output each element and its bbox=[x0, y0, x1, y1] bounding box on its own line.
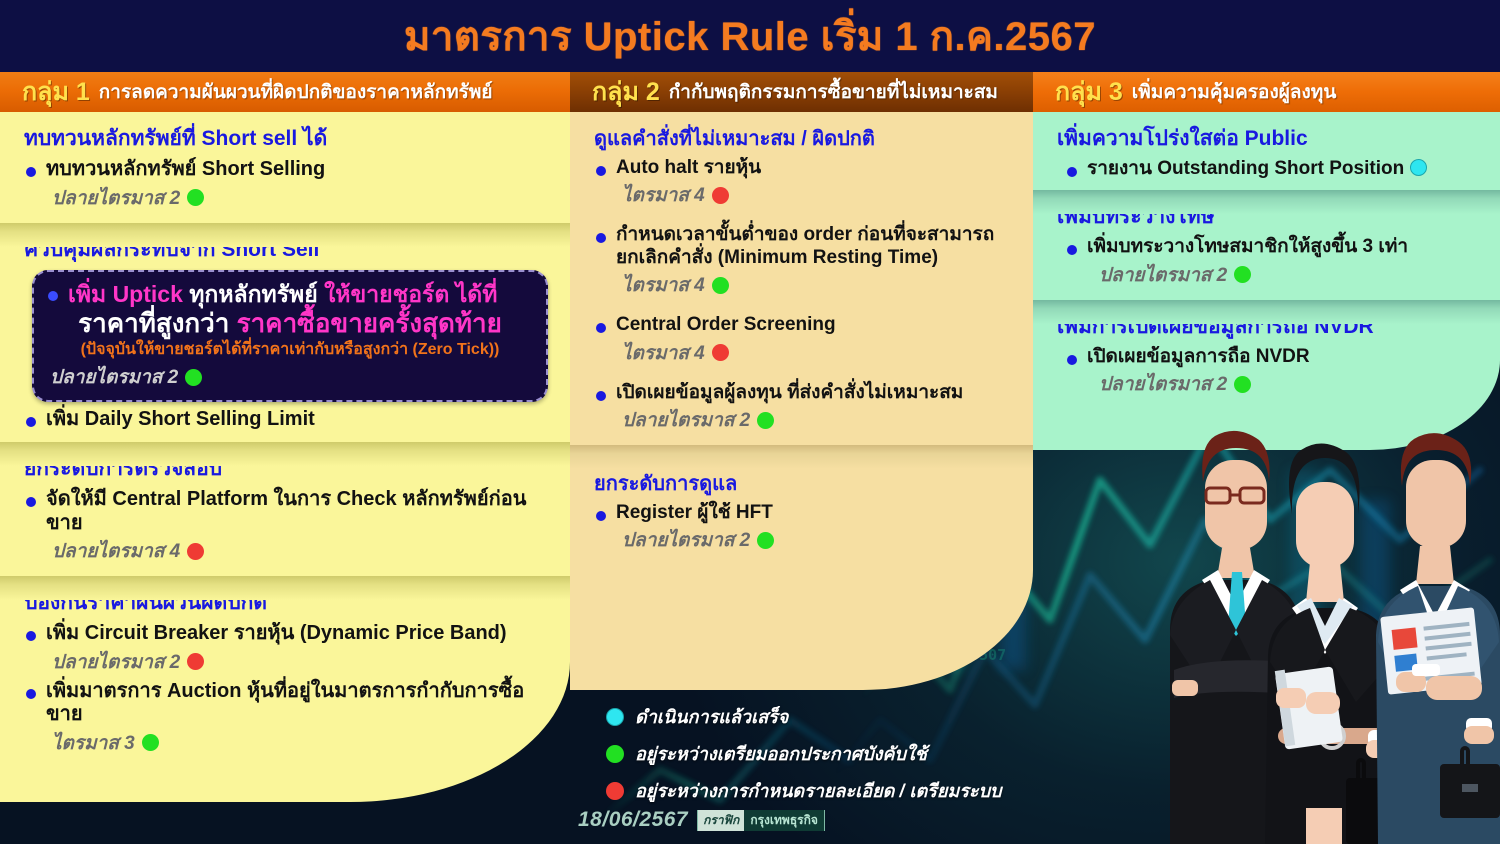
item-text: รายงาน Outstanding Short Position bbox=[1087, 158, 1486, 180]
status-green-icon bbox=[712, 277, 729, 294]
bullet-icon bbox=[26, 497, 36, 507]
group-1-label: การลดความผันผวนที่ผิดปกติของราคาหลักทรัพ… bbox=[99, 77, 493, 107]
business-people-illustration bbox=[1110, 430, 1500, 844]
timing-text: ปลายไตรมาส 2 bbox=[52, 647, 180, 677]
item-timing: ไตรมาส 4 bbox=[616, 270, 1019, 300]
infographic-canvas: 17.507 8.23 -1.04 1,302.55 +4.18 0.98 มา… bbox=[0, 0, 1500, 844]
section-title: ควบคุมผลกระทบจาก Short Sell bbox=[24, 233, 556, 266]
status-red-icon bbox=[187, 543, 204, 560]
group-1-column: ทบทวนหลักทรัพย์ที่ Short sell ได้ ทบทวนห… bbox=[0, 112, 570, 802]
bullet-icon bbox=[1067, 355, 1077, 365]
item-timing: ปลายไตรมาส 2 bbox=[46, 183, 556, 213]
timing-text: ปลายไตรมาส 2 bbox=[1099, 260, 1227, 290]
legend-row-done: ดำเนินการแล้วเสร็จ bbox=[606, 702, 1036, 731]
credit-label: กราฟิก bbox=[698, 810, 744, 831]
section-title: ดูแลคำสั่งที่ไม่เหมาะสม / ผิดปกติ bbox=[594, 122, 1019, 154]
status-cyan-icon bbox=[606, 708, 624, 726]
bullet-icon bbox=[26, 417, 36, 427]
bullet-icon bbox=[596, 323, 606, 333]
list-item: เปิดเผยข้อมูลการถือ NVDR ปลายไตรมาส 2 bbox=[1057, 346, 1486, 399]
legend-row-defining-details: อยู่ระหว่างการกำหนดรายละเอียด / เตรียมระ… bbox=[606, 776, 1036, 805]
item-timing: ปลายไตรมาส 4 bbox=[46, 536, 556, 566]
status-green-icon bbox=[606, 745, 624, 763]
bullet-icon bbox=[1067, 245, 1077, 255]
timing-text: ไตรมาส 4 bbox=[622, 180, 705, 210]
section-title: เพิ่มความโปร่งใสต่อ Public bbox=[1057, 122, 1486, 155]
item-text: กำหนดเวลาขั้นต่ำของ order ก่อนที่จะสามาร… bbox=[616, 224, 1019, 269]
section-control-shortsell: ควบคุมผลกระทบจาก Short Sell เพิ่ม Uptick… bbox=[0, 223, 570, 442]
item-timing: ไตรมาส 4 bbox=[616, 180, 1019, 210]
legend-label: อยู่ระหว่างการกำหนดรายละเอียด / เตรียมระ… bbox=[635, 776, 1001, 805]
status-legend: ดำเนินการแล้วเสร็จ อยู่ระหว่างเตรียมออกป… bbox=[606, 702, 1036, 813]
credit-badge: กราฟิก กรุงเทพธุรกิจ bbox=[697, 810, 825, 831]
status-cyan-icon bbox=[1410, 159, 1427, 176]
item-text: เพิ่มบทระวางโทษสมาชิกให้สูงขึ้น 3 เท่า bbox=[1087, 236, 1486, 258]
list-item: Register ผู้ใช้ HFT ปลายไตรมาส 2 bbox=[594, 502, 1019, 555]
timing-text: ปลายไตรมาส 2 bbox=[1099, 369, 1227, 399]
item-timing: ปลายไตรมาส 2 bbox=[46, 647, 556, 677]
item-text: เพิ่มมาตรการ Auction หุ้นที่อยู่ในมาตรกา… bbox=[46, 680, 556, 727]
status-green-icon bbox=[187, 189, 204, 206]
section-upgrade-inspection: ยกระดับการตรวจสอบ จัดให้มี Central Platf… bbox=[0, 442, 570, 576]
item-timing: ปลายไตรมาส 2 bbox=[1087, 260, 1486, 290]
timing-text: ปลายไตรมาส 2 bbox=[622, 525, 750, 555]
item-text: Central Order Screening bbox=[616, 314, 1019, 336]
item-text: ทบทวนหลักทรัพย์ Short Selling bbox=[46, 158, 556, 182]
item-text: เพิ่ม Circuit Breaker รายหุ้น (Dynamic P… bbox=[46, 622, 556, 646]
bullet-icon bbox=[596, 166, 606, 176]
callout-timing: ปลายไตรมาส 2 bbox=[48, 362, 532, 392]
person-man-folder bbox=[1376, 433, 1500, 844]
section-increase-penalty: เพิ่มบทระวางโทษ เพิ่มบทระวางโทษสมาชิกให้… bbox=[1033, 190, 1500, 299]
item-text: เพิ่ม Daily Short Selling Limit bbox=[46, 408, 556, 432]
list-item: ทบทวนหลักทรัพย์ Short Selling ปลายไตรมาส… bbox=[24, 158, 556, 213]
status-green-icon bbox=[142, 734, 159, 751]
timing-text: ปลายไตรมาส 2 bbox=[50, 362, 178, 392]
timing-text: ปลายไตรมาส 2 bbox=[622, 405, 750, 435]
legend-label: ดำเนินการแล้วเสร็จ bbox=[635, 702, 788, 731]
timing-text: ไตรมาส 4 bbox=[622, 338, 705, 368]
timing-text: ปลายไตรมาส 2 bbox=[52, 183, 180, 213]
bullet-icon bbox=[596, 233, 606, 243]
group-3-column: เพิ่มความโปร่งใสต่อ Public รายงาน Outsta… bbox=[1033, 112, 1500, 450]
bullet-icon bbox=[1067, 167, 1077, 177]
timing-text: ไตรมาส 3 bbox=[52, 728, 135, 758]
item-text: Auto halt รายหุ้น bbox=[616, 157, 1019, 179]
group-2-number: กลุ่ม 2 bbox=[592, 72, 660, 112]
group-3-label: เพิ่มความคุ้มครองผู้ลงทุน bbox=[1132, 77, 1337, 107]
list-item: กำหนดเวลาขั้นต่ำของ order ก่อนที่จะสามาร… bbox=[594, 224, 1019, 300]
status-green-icon bbox=[1234, 376, 1251, 393]
credit-name: กรุงเทพธุรกิจ bbox=[744, 810, 824, 831]
section-upgrade-supervision: ยกระดับการดูแล Register ผู้ใช้ HFT ปลายไ… bbox=[570, 445, 1033, 565]
callout-line-2: ราคาที่สูงกว่า ราคาซื้อขายครั้งสุดท้าย bbox=[48, 308, 532, 339]
item-text: จัดให้มี Central Platform ในการ Check หล… bbox=[46, 488, 556, 535]
section-monitor-orders: ดูแลคำสั่งที่ไม่เหมาะสม / ผิดปกติ Auto h… bbox=[570, 112, 1033, 445]
bullet-icon bbox=[48, 291, 58, 301]
list-item: Central Order Screening ไตรมาส 4 bbox=[594, 314, 1019, 367]
section-title: เพิ่มบทระวางโทษ bbox=[1057, 200, 1486, 233]
list-item: เปิดเผยข้อมูลผู้ลงทุน ที่ส่งคำสั่งไม่เหม… bbox=[594, 382, 1019, 435]
section-prevent-volatility: ป้องกันราคาผันผวนผิดปกติ เพิ่ม Circuit B… bbox=[0, 576, 570, 768]
section-title: ยกระดับการตรวจสอบ bbox=[24, 452, 556, 485]
group-2-label: กำกับพฤติกรรมการซื้อขายที่ไม่เหมาะสม bbox=[669, 77, 998, 107]
group-2-column: ดูแลคำสั่งที่ไม่เหมาะสม / ผิดปกติ Auto h… bbox=[570, 112, 1033, 690]
bullet-icon bbox=[596, 511, 606, 521]
status-green-icon bbox=[1234, 266, 1251, 283]
list-item: เพิ่ม Circuit Breaker รายหุ้น (Dynamic P… bbox=[24, 622, 556, 677]
group-header-band: กลุ่ม 1 การลดความผันผวนที่ผิดปกติของราคา… bbox=[0, 72, 1500, 112]
group-header-3: กลุ่ม 3 เพิ่มความคุ้มครองผู้ลงทุน bbox=[1033, 72, 1500, 112]
bullet-icon bbox=[26, 689, 36, 699]
legend-label: อยู่ระหว่างเตรียมออกประกาศบังคับใช้ bbox=[635, 739, 927, 768]
timing-text: ปลายไตรมาส 4 bbox=[52, 536, 180, 566]
list-item: เพิ่มบทระวางโทษสมาชิกให้สูงขึ้น 3 เท่า ป… bbox=[1057, 236, 1486, 289]
callout-line2-b: ราคาซื้อขายครั้งสุดท้าย bbox=[237, 308, 502, 338]
callout-line1-a: เพิ่ม Uptick bbox=[68, 281, 189, 307]
group-header-2: กลุ่ม 2 กำกับพฤติกรรมการซื้อขายที่ไม่เหม… bbox=[570, 72, 1033, 112]
callout-line2-a: ราคาที่สูงกว่า bbox=[78, 308, 236, 338]
uptick-rule-callout: เพิ่ม Uptick ทุกหลักทรัพย์ ให้ขายชอร์ต ไ… bbox=[32, 270, 548, 403]
callout-line1-b: ทุกหลักทรัพย์ bbox=[189, 281, 324, 307]
section-review-shortsell: ทบทวนหลักทรัพย์ที่ Short sell ได้ ทบทวนห… bbox=[0, 112, 570, 223]
status-green-icon bbox=[185, 369, 202, 386]
legend-row-preparing-announcement: อยู่ระหว่างเตรียมออกประกาศบังคับใช้ bbox=[606, 739, 1036, 768]
publish-date: 18/06/2567 bbox=[578, 808, 688, 832]
section-title: ป้องกันราคาผันผวนผิดปกติ bbox=[24, 586, 556, 619]
callout-note: (ปัจจุบันให้ขายชอร์ตได้ที่ราคาเท่ากับหรื… bbox=[48, 340, 532, 360]
status-red-icon bbox=[606, 782, 624, 800]
title-bar: มาตรการ Uptick Rule เริ่ม 1 ก.ค.2567 bbox=[0, 0, 1500, 72]
callout-line1-c: ให้ขายชอร์ต ได้ที่ bbox=[324, 281, 497, 307]
section-transparency-public: เพิ่มความโปร่งใสต่อ Public รายงาน Outsta… bbox=[1033, 112, 1500, 190]
footer: 18/06/2567 กราฟิก กรุงเทพธุรกิจ bbox=[578, 808, 825, 832]
section-nvdr-disclosure: เพิ่มการเปิดเผยข้อมูลการถือ NVDR เปิดเผย… bbox=[1033, 300, 1500, 409]
page-title: มาตรการ Uptick Rule เริ่ม 1 ก.ค.2567 bbox=[404, 4, 1096, 68]
status-green-icon bbox=[757, 412, 774, 429]
list-item: เพิ่มมาตรการ Auction หุ้นที่อยู่ในมาตรกา… bbox=[24, 680, 556, 758]
bullet-icon bbox=[26, 167, 36, 177]
bullet-icon bbox=[26, 631, 36, 641]
section-title: ทบทวนหลักทรัพย์ที่ Short sell ได้ bbox=[24, 122, 556, 155]
section-title: ยกระดับการดูแล bbox=[594, 467, 1019, 499]
section-title: เพิ่มการเปิดเผยข้อมูลการถือ NVDR bbox=[1057, 310, 1486, 343]
status-red-icon bbox=[712, 344, 729, 361]
item-label: รายงาน Outstanding Short Position bbox=[1087, 158, 1404, 179]
group-1-number: กลุ่ม 1 bbox=[22, 72, 90, 112]
bullet-icon bbox=[596, 391, 606, 401]
item-text: เปิดเผยข้อมูลการถือ NVDR bbox=[1087, 346, 1486, 368]
item-timing: ไตรมาส 3 bbox=[46, 728, 556, 758]
status-red-icon bbox=[712, 187, 729, 204]
status-green-icon bbox=[757, 532, 774, 549]
item-timing: ไตรมาส 4 bbox=[616, 338, 1019, 368]
item-text: Register ผู้ใช้ HFT bbox=[616, 502, 1019, 524]
timing-text: ไตรมาส 4 bbox=[622, 270, 705, 300]
list-item: รายงาน Outstanding Short Position bbox=[1057, 158, 1486, 180]
group-3-number: กลุ่ม 3 bbox=[1055, 72, 1123, 112]
list-item: เพิ่ม Daily Short Selling Limit bbox=[24, 408, 556, 432]
status-red-icon bbox=[187, 653, 204, 670]
callout-line-1: เพิ่ม Uptick ทุกหลักทรัพย์ ให้ขายชอร์ต ไ… bbox=[48, 281, 532, 309]
group-header-1: กลุ่ม 1 การลดความผันผวนที่ผิดปกติของราคา… bbox=[0, 72, 570, 112]
list-item: จัดให้มี Central Platform ในการ Check หล… bbox=[24, 488, 556, 566]
item-text: เปิดเผยข้อมูลผู้ลงทุน ที่ส่งคำสั่งไม่เหม… bbox=[616, 382, 1019, 404]
list-item: Auto halt รายหุ้น ไตรมาส 4 bbox=[594, 157, 1019, 210]
item-timing: ปลายไตรมาส 2 bbox=[1087, 369, 1486, 399]
item-timing: ปลายไตรมาส 2 bbox=[616, 525, 1019, 555]
item-timing: ปลายไตรมาส 2 bbox=[616, 405, 1019, 435]
